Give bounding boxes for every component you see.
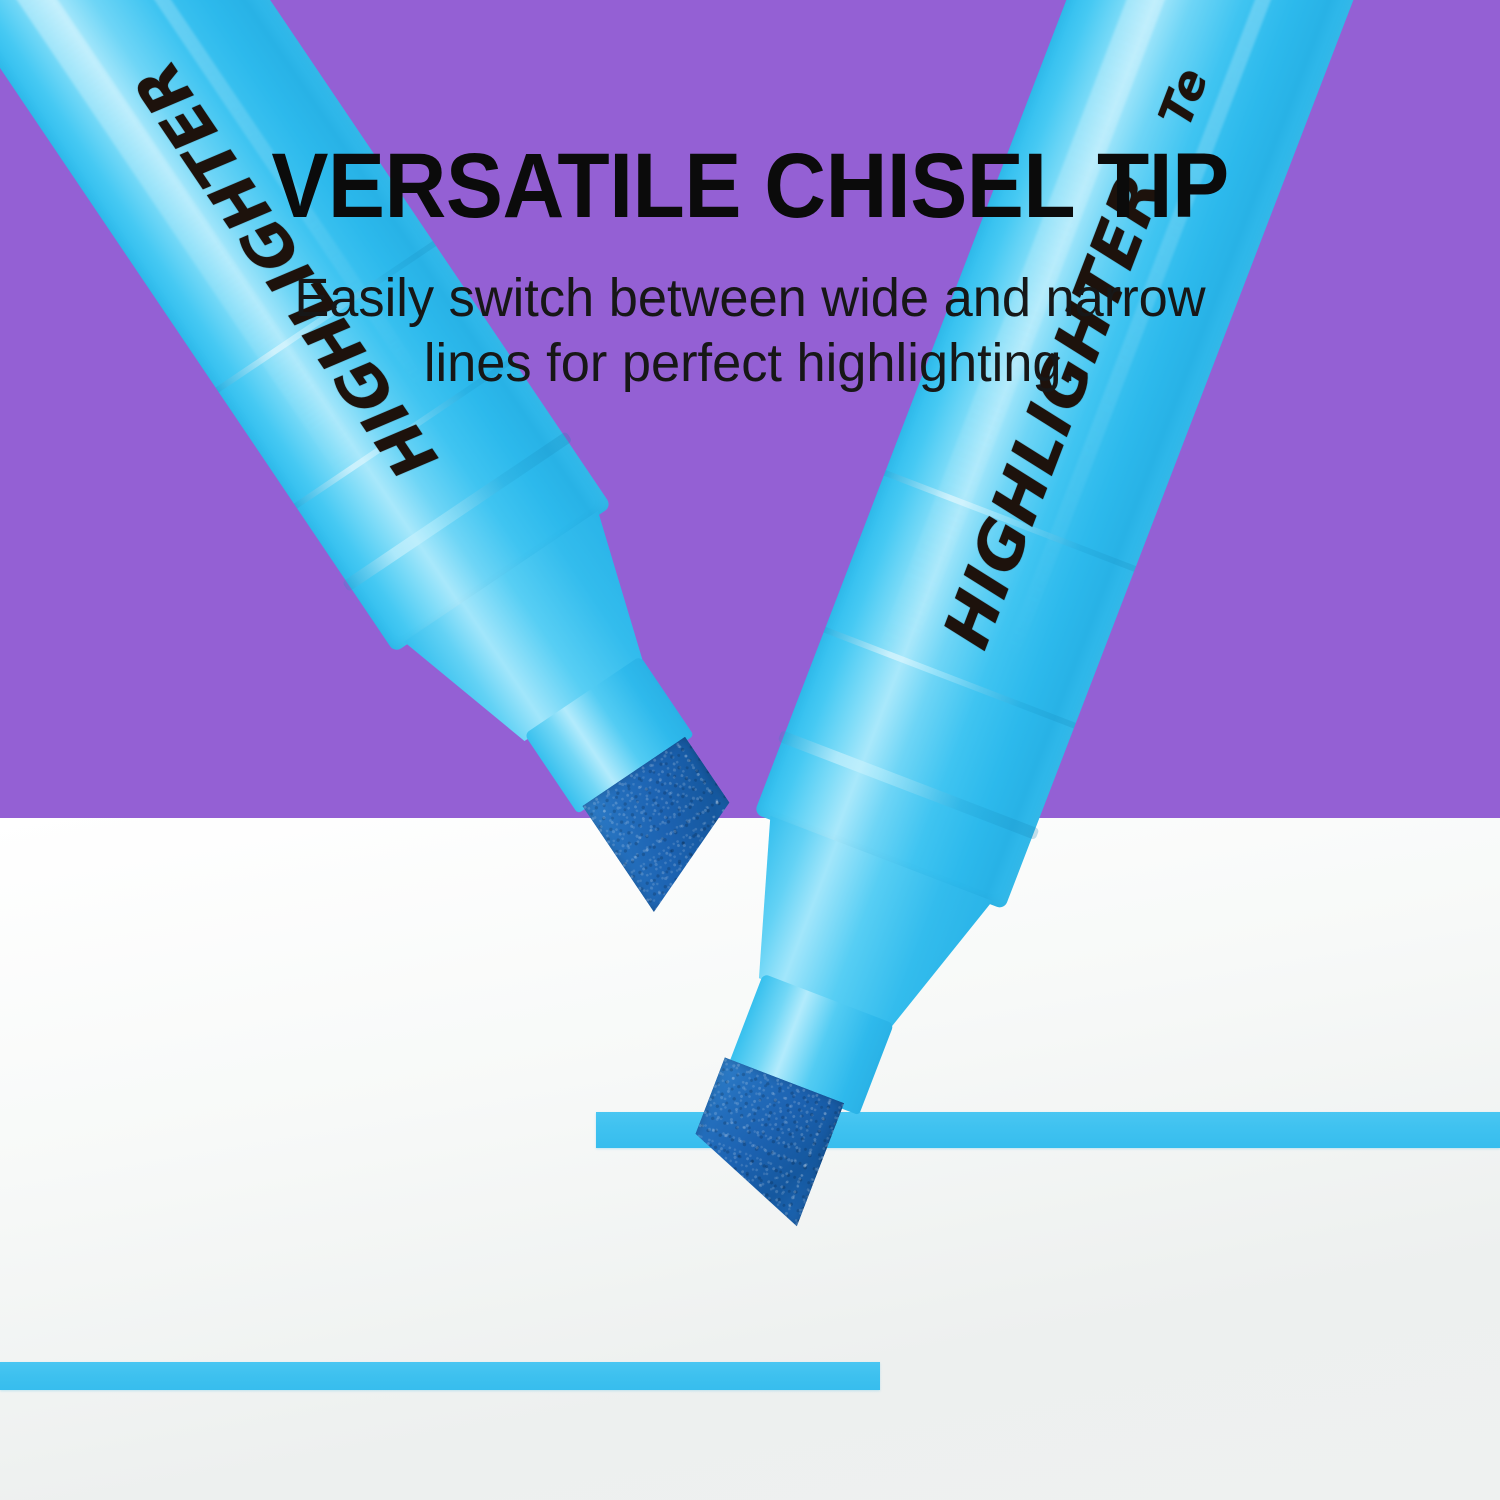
cap-barrel-seam (778, 730, 1040, 840)
product-image-canvas: HIGHLIGHTER HIGHLIGHTER Te VERSATILE CHI… (0, 0, 1500, 1500)
barrel-ring-seam (824, 627, 1076, 729)
